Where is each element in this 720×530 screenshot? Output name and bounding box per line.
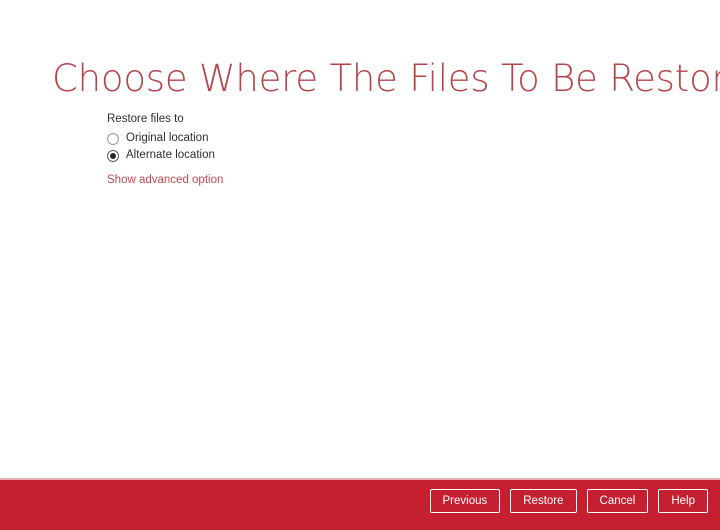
- footer-button-group: Previous Restore Cancel Help: [430, 489, 709, 513]
- radio-option-label: Alternate location: [126, 148, 215, 163]
- radio-option-label: Original location: [126, 131, 208, 146]
- cancel-button[interactable]: Cancel: [587, 489, 649, 513]
- footer-bar: Previous Restore Cancel Help: [0, 478, 720, 530]
- restore-files-to-label: Restore files to: [107, 112, 627, 127]
- restore-button[interactable]: Restore: [510, 489, 576, 513]
- radio-option-alternate-location[interactable]: Alternate location: [107, 147, 627, 164]
- previous-button[interactable]: Previous: [430, 489, 501, 513]
- radio-option-original-location[interactable]: Original location: [107, 130, 627, 147]
- help-button[interactable]: Help: [658, 489, 708, 513]
- page-title: Choose Where The Files To Be Restored: [52, 55, 692, 103]
- restore-wizard-page: Choose Where The Files To Be Restored Re…: [0, 0, 720, 530]
- restore-location-radio-group: Original location Alternate location: [107, 130, 627, 164]
- radio-unchecked-icon: [107, 133, 119, 145]
- show-advanced-option-link[interactable]: Show advanced option: [107, 173, 223, 188]
- restore-location-form: Restore files to Original location Alter…: [107, 112, 627, 188]
- radio-checked-icon: [107, 150, 119, 162]
